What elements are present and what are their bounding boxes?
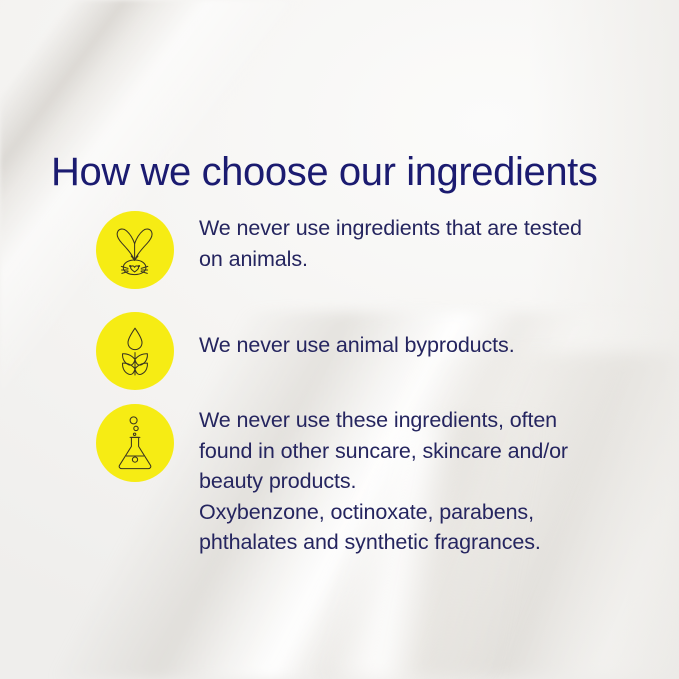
list-item: We never use ingredients that are tested… (0, 211, 679, 312)
icon-badge-no-harsh-ingredients (96, 404, 174, 482)
list-item: We never use animal byproducts. (0, 312, 679, 404)
list-item-text: We never use ingredients that are tested… (199, 213, 599, 274)
infographic-canvas: How we choose our ingredients (0, 0, 679, 679)
list-item: We never use these ingredients, often fo… (0, 404, 679, 558)
list-item-text-block: We never use these ingredients, often fo… (199, 404, 679, 558)
benefit-list: We never use ingredients that are tested… (0, 211, 679, 558)
list-item-text-block: We never use animal byproducts. (199, 312, 679, 361)
icon-badge-cruelty-free (96, 211, 174, 289)
icon-badge-no-animal-byproducts (96, 312, 174, 390)
page-title: How we choose our ingredients (51, 151, 598, 194)
list-item-text-block: We never use ingredients that are tested… (199, 211, 679, 274)
bunny-heart-ears-icon (111, 223, 159, 277)
list-item-text: We never use these ingredients, often fo… (199, 405, 599, 497)
list-item-text: We never use animal byproducts. (199, 330, 599, 361)
erlenmeyer-flask-icon (113, 415, 157, 471)
plant-droplet-icon (113, 324, 157, 378)
list-item-footnote: Oxybenzone, octinoxate, parabens, phthal… (199, 497, 599, 558)
